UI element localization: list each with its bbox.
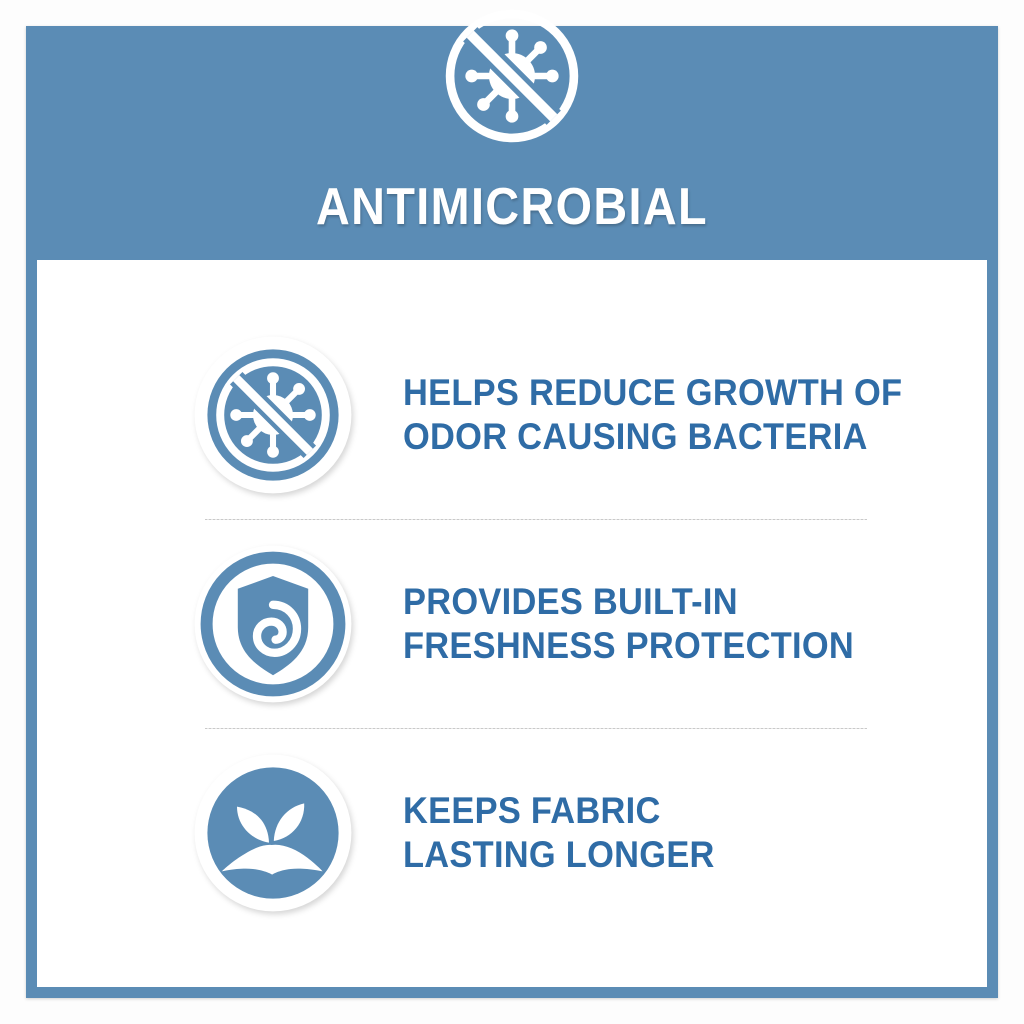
feature-list: HELPS REDUCE GROWTH OF ODOR CAUSING BACT… (37, 260, 987, 987)
feature-label-line-1: HELPS REDUCE GROWTH OF (403, 371, 902, 414)
feature-label: HELPS REDUCE GROWTH OF ODOR CAUSING BACT… (403, 371, 902, 458)
list-item[interactable]: HELPS REDUCE GROWTH OF ODOR CAUSING BACT… (37, 311, 987, 519)
no-virus-icon (440, 4, 584, 148)
shield-swirl-icon (187, 538, 359, 710)
feature-label-line-1: KEEPS FABRIC (403, 789, 715, 832)
content-panel: HELPS REDUCE GROWTH OF ODOR CAUSING BACT… (37, 260, 987, 987)
page-title: ANTIMICROBIAL (75, 181, 950, 233)
leaf-sprout-icon (187, 747, 359, 919)
blue-frame: ANTIMICROBIAL (26, 26, 998, 998)
no-virus-icon (187, 329, 359, 501)
feature-label-line-2: ODOR CAUSING BACTERIA (403, 415, 902, 458)
feature-label: KEEPS FABRIC LASTING LONGER (403, 789, 715, 876)
header-band: ANTIMICROBIAL (26, 26, 998, 260)
feature-label-line-1: PROVIDES BUILT-IN (403, 580, 854, 623)
list-item[interactable]: PROVIDES BUILT-IN FRESHNESS PROTECTION (37, 520, 987, 728)
feature-label-line-2: FRESHNESS PROTECTION (403, 624, 854, 667)
list-item[interactable]: KEEPS FABRIC LASTING LONGER (37, 729, 987, 937)
feature-label: PROVIDES BUILT-IN FRESHNESS PROTECTION (403, 580, 854, 667)
feature-label-line-2: LASTING LONGER (403, 833, 715, 876)
antimicrobial-infographic: ANTIMICROBIAL (0, 0, 1024, 1024)
